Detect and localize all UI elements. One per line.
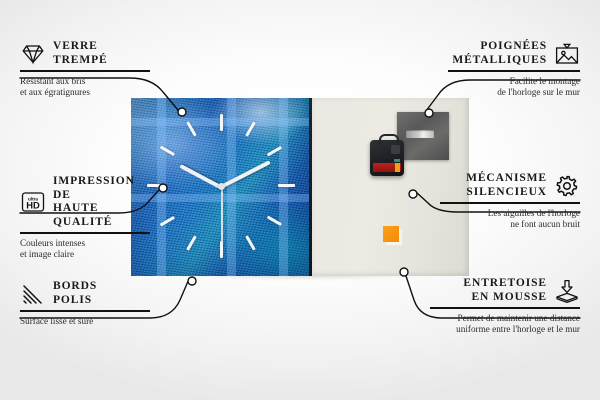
callout-title: MÉCANISME SILENCIEUX <box>466 172 547 199</box>
callout-verre-trempe: VERRE TREMPÉ Résistant aux bris et aux é… <box>20 40 150 99</box>
callout-description: Couleurs intenses et image claire <box>20 238 150 261</box>
clock-tick <box>220 241 223 258</box>
callout-title: ENTRETOISE EN MOUSSE <box>463 277 547 304</box>
callout-title: BORDS POLIS <box>53 280 97 307</box>
clock-tick <box>278 184 295 187</box>
clock-hand-cap <box>218 183 225 190</box>
callout-description: Permet de maintenir une distance uniform… <box>430 313 580 336</box>
callout-rule <box>20 310 150 312</box>
picture-hanger-icon <box>554 41 580 67</box>
callout-mecanisme-silencieux: MÉCANISME SILENCIEUX Les aiguilles de l'… <box>440 172 580 231</box>
polished-edge-icon <box>20 281 46 307</box>
callout-title: IMPRESSION DE HAUTE QUALITÉ <box>53 175 150 229</box>
callout-description: Les aiguilles de l'horloge ne font aucun… <box>440 208 580 231</box>
ultra-hd-large-text: HD <box>26 200 40 211</box>
clock-tick <box>220 114 223 131</box>
callout-title: VERRE TREMPÉ <box>53 40 108 67</box>
callout-rule <box>20 70 150 72</box>
diamond-icon <box>20 41 46 67</box>
callout-title: POIGNÉES MÉTALLIQUES <box>452 40 547 67</box>
mechanism-marking <box>394 159 400 162</box>
mechanism-hook <box>379 134 399 145</box>
battery-terminal <box>395 163 400 172</box>
gear-icon <box>554 173 580 199</box>
callout-poignees-metalliques: POIGNÉES MÉTALLIQUES Facilite le montage… <box>448 40 580 99</box>
callout-description: Surface lisse et sûre <box>20 316 150 328</box>
hanger-slot <box>406 130 434 138</box>
foam-spacer <box>383 226 399 242</box>
mechanism-dial <box>391 145 400 154</box>
ultra-hd-icon: ultra HD <box>20 189 46 215</box>
clock-face-panel <box>131 98 311 276</box>
callout-rule <box>440 202 580 204</box>
callout-rule <box>448 70 580 72</box>
callout-entretoise-en-mousse: ENTRETOISE EN MOUSSE Permet de maintenir… <box>430 277 580 336</box>
foam-spacer-icon <box>554 278 580 304</box>
callout-description: Résistant aux bris et aux égratignures <box>20 76 150 99</box>
callout-impression-haute-qualite: ultra HD IMPRESSION DE HAUTE QUALITÉ Cou… <box>20 175 150 261</box>
metal-hanger-plate <box>397 112 449 160</box>
quartz-mechanism <box>370 140 404 176</box>
callout-bords-polis: BORDS POLIS Surface lisse et sûre <box>20 280 150 327</box>
battery <box>373 163 401 172</box>
callout-description: Facilite le montage de l'horloge sur le … <box>448 76 580 99</box>
clock-hand-second <box>221 186 223 242</box>
infographic-canvas: VERRE TREMPÉ Résistant aux bris et aux é… <box>0 0 600 400</box>
product-image <box>131 98 469 278</box>
callout-rule <box>430 307 580 309</box>
callout-rule <box>20 232 150 234</box>
